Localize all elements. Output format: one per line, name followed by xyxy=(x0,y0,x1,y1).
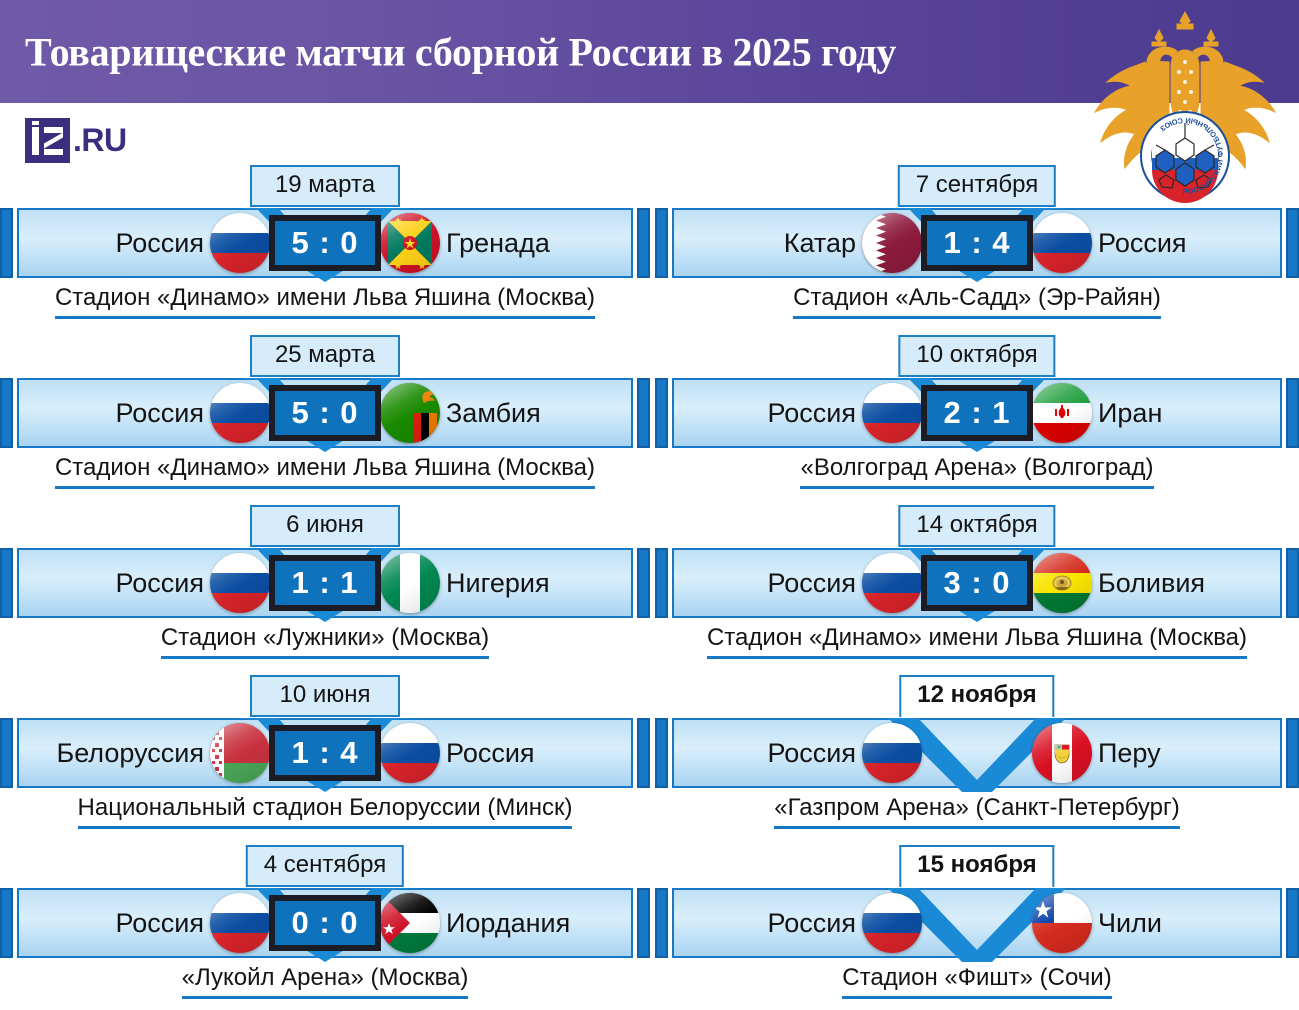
bar-cap-right xyxy=(1286,718,1299,788)
flag-russia-icon xyxy=(210,383,270,443)
match-venue: Стадион «Фишт» (Сочи) xyxy=(655,964,1299,999)
away-team-name: Замбия xyxy=(446,398,541,429)
flag-nigeria-icon xyxy=(380,553,440,613)
match-venue: «Газпром Арена» (Санкт-Петербург) xyxy=(655,794,1299,829)
flag-russia-icon xyxy=(862,383,922,443)
match-card: Россия Чили 15 ноября Стадион «Фишт» (Со… xyxy=(655,840,1299,1010)
flag-russia-icon xyxy=(210,553,270,613)
away-team: Гренада xyxy=(380,208,550,278)
match-score: 3 : 0 xyxy=(921,555,1033,611)
match-venue: Стадион «Аль-Садд» (Эр-Райян) xyxy=(655,284,1299,319)
flag-zambia-icon xyxy=(380,383,440,443)
match-venue: «Лукойл Арена» (Москва) xyxy=(0,964,650,999)
flag-jordan-icon xyxy=(380,893,440,953)
home-team-name: Россия xyxy=(767,908,856,939)
venue-text: «Лукойл Арена» (Москва) xyxy=(182,964,469,999)
match-score: 5 : 0 xyxy=(269,385,381,441)
venue-text: «Газпром Арена» (Санкт-Петербург) xyxy=(774,794,1179,829)
bar-cap-right xyxy=(637,548,650,618)
match-venue: Стадион «Динамо» имени Льва Яшина (Москв… xyxy=(655,624,1299,659)
izru-logo-text: .RU xyxy=(73,122,127,159)
venue-text: «Волгоград Арена» (Волгоград) xyxy=(800,454,1153,489)
bar-cap-right xyxy=(1286,378,1299,448)
home-team-name: Россия xyxy=(115,228,204,259)
match-score: 5 : 0 xyxy=(269,215,381,271)
home-team-name: Белоруссия xyxy=(56,738,204,769)
away-team-name: Перу xyxy=(1098,738,1161,769)
match-venue: Национальный стадион Белоруссии (Минск) xyxy=(0,794,650,829)
match-date: 12 ноября xyxy=(899,675,1054,717)
away-team-name: Гренада xyxy=(446,228,550,259)
venue-text: Стадион «Фишт» (Сочи) xyxy=(842,964,1111,999)
match-card: Россия Иордания 0 : 0 4 сентября «Лукойл… xyxy=(0,840,650,1010)
venue-text: Стадион «Лужники» (Москва) xyxy=(161,624,489,659)
venue-text: Стадион «Аль-Садд» (Эр-Райян) xyxy=(793,284,1161,319)
bar-cap-left xyxy=(0,378,13,448)
away-team: Нигерия xyxy=(380,548,550,618)
match-date: 6 июня xyxy=(250,505,400,547)
match-card: Белоруссия Россия 1 : 4 10 июня Национал… xyxy=(0,670,650,840)
away-team: Перу xyxy=(1032,718,1161,788)
match-venue: Стадион «Динамо» имени Льва Яшина (Москв… xyxy=(0,284,650,319)
matches-column-right: Катар Россия 1 : 4 7 сентября Стадион «А… xyxy=(655,160,1299,1010)
flag-russia-icon xyxy=(210,893,270,953)
home-team-name: Россия xyxy=(767,568,856,599)
away-team: Боливия xyxy=(1032,548,1205,618)
bar-cap-left xyxy=(655,378,668,448)
bar-panel xyxy=(672,718,1282,788)
flag-russia-icon xyxy=(862,893,922,953)
away-team: Иран xyxy=(1032,378,1162,448)
bar-cap-right xyxy=(1286,548,1299,618)
match-card: Россия Боливия 3 : 0 14 октября Стадион … xyxy=(655,500,1299,670)
flag-qatar-icon xyxy=(862,213,922,273)
match-card: Россия Иран 2 : 1 10 октября «Волгоград … xyxy=(655,330,1299,500)
away-team-name: Россия xyxy=(1098,228,1187,259)
match-score: 1 : 1 xyxy=(269,555,381,611)
home-team: Катар xyxy=(784,208,922,278)
home-team: Россия xyxy=(115,888,270,958)
flag-belarus-icon xyxy=(210,723,270,783)
match-date: 7 сентября xyxy=(898,165,1056,207)
match-date: 10 июня xyxy=(250,675,400,717)
izru-logo[interactable]: .RU xyxy=(25,117,127,163)
match-bar xyxy=(655,718,1299,788)
away-team: Россия xyxy=(380,718,535,788)
flag-russia-icon xyxy=(1032,213,1092,273)
home-team: Россия xyxy=(767,378,922,448)
home-team: Белоруссия xyxy=(56,718,270,788)
bar-cap-right xyxy=(637,718,650,788)
away-team: Чили xyxy=(1032,888,1162,958)
flag-russia-icon xyxy=(210,213,270,273)
rfu-emblem: РОССИЙСКИЙ ФУТБОЛЬНЫЙ СОЮЗ xyxy=(1085,4,1285,212)
bar-cap-left xyxy=(0,718,13,788)
home-team: Россия xyxy=(115,548,270,618)
flag-iran-icon xyxy=(1032,383,1092,443)
flag-peru-icon xyxy=(1032,723,1092,783)
venue-text: Стадион «Динамо» имени Льва Яшина (Москв… xyxy=(55,284,595,319)
match-date: 19 марта xyxy=(250,165,400,207)
match-venue: «Волгоград Арена» (Волгоград) xyxy=(655,454,1299,489)
match-venue: Стадион «Динамо» имени Льва Яшина (Москв… xyxy=(0,454,650,489)
away-team-name: Боливия xyxy=(1098,568,1205,599)
flag-russia-icon xyxy=(380,723,440,783)
bar-cap-right xyxy=(637,208,650,278)
flag-chile-icon xyxy=(1032,893,1092,953)
home-team: Россия xyxy=(767,718,922,788)
bar-cap-right xyxy=(637,888,650,958)
match-score: 2 : 1 xyxy=(921,385,1033,441)
home-team-name: Россия xyxy=(115,908,204,939)
home-team: Россия xyxy=(115,378,270,448)
home-team-name: Россия xyxy=(115,568,204,599)
bar-cap-left xyxy=(655,548,668,618)
bar-cap-right xyxy=(1286,888,1299,958)
home-team-name: Россия xyxy=(767,738,856,769)
flag-russia-icon xyxy=(862,553,922,613)
bar-cap-right xyxy=(637,378,650,448)
home-team: Россия xyxy=(767,888,922,958)
away-team-name: Нигерия xyxy=(446,568,550,599)
away-team: Замбия xyxy=(380,378,541,448)
bar-cap-left xyxy=(655,888,668,958)
page-title: Товарищеские матчи сборной России в 2025… xyxy=(25,28,896,75)
bar-cap-left xyxy=(655,208,668,278)
home-team-name: Россия xyxy=(767,398,856,429)
match-date: 4 сентября xyxy=(246,845,404,887)
flag-grenada-icon xyxy=(380,213,440,273)
matches-column-left: Россия Гренада 5 : 0 19 марта Стадион «Д… xyxy=(0,160,650,1010)
venue-text: Национальный стадион Белоруссии (Минск) xyxy=(78,794,573,829)
home-team-name: Россия xyxy=(115,398,204,429)
flag-russia-icon xyxy=(862,723,922,783)
iz-logo-mark xyxy=(25,118,70,163)
away-team-name: Иран xyxy=(1098,398,1162,429)
match-score: 1 : 4 xyxy=(269,725,381,781)
flag-bolivia-icon xyxy=(1032,553,1092,613)
bar-cap-right xyxy=(1286,208,1299,278)
bar-cap-left xyxy=(0,548,13,618)
home-team: Россия xyxy=(767,548,922,618)
match-card: Россия Замбия 5 : 0 25 марта Стадион «Ди… xyxy=(0,330,650,500)
match-score: 1 : 4 xyxy=(921,215,1033,271)
away-team-name: Иордания xyxy=(446,908,570,939)
venue-text: Стадион «Динамо» имени Льва Яшина (Москв… xyxy=(55,454,595,489)
bar-cap-left xyxy=(0,888,13,958)
match-date: 10 октября xyxy=(898,335,1055,377)
bar-panel xyxy=(672,888,1282,958)
match-date: 15 ноября xyxy=(899,845,1054,887)
home-team-name: Катар xyxy=(784,228,856,259)
bar-cap-left xyxy=(655,718,668,788)
match-venue: Стадион «Лужники» (Москва) xyxy=(0,624,650,659)
match-date: 25 марта xyxy=(250,335,400,377)
match-card: Россия Гренада 5 : 0 19 марта Стадион «Д… xyxy=(0,160,650,330)
match-date: 14 октября xyxy=(898,505,1055,547)
match-card: Россия Нигерия 1 : 1 6 июня Стадион «Луж… xyxy=(0,500,650,670)
venue-text: Стадион «Динамо» имени Льва Яшина (Москв… xyxy=(707,624,1247,659)
away-team: Иордания xyxy=(380,888,570,958)
bar-cap-left xyxy=(0,208,13,278)
away-team-name: Россия xyxy=(446,738,535,769)
match-card: Россия Перу 12 ноября «Газпром Арена» (С… xyxy=(655,670,1299,840)
home-team: Россия xyxy=(115,208,270,278)
match-bar xyxy=(655,888,1299,958)
away-team-name: Чили xyxy=(1098,908,1162,939)
match-score: 0 : 0 xyxy=(269,895,381,951)
away-team: Россия xyxy=(1032,208,1187,278)
